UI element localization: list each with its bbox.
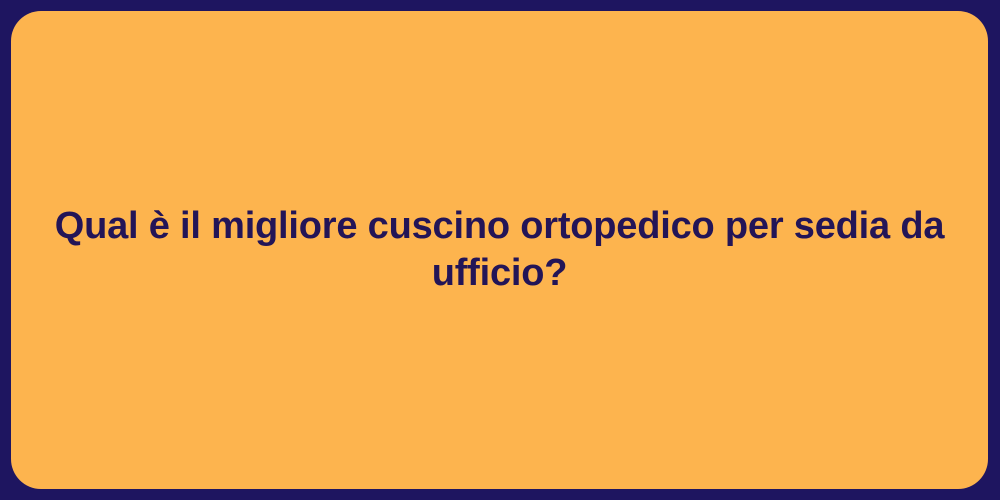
page-title: Qual è il migliore cuscino ortopedico pe… [51, 203, 948, 298]
banner-panel: Qual è il migliore cuscino ortopedico pe… [11, 11, 988, 489]
banner-frame: Qual è il migliore cuscino ortopedico pe… [0, 0, 1000, 500]
